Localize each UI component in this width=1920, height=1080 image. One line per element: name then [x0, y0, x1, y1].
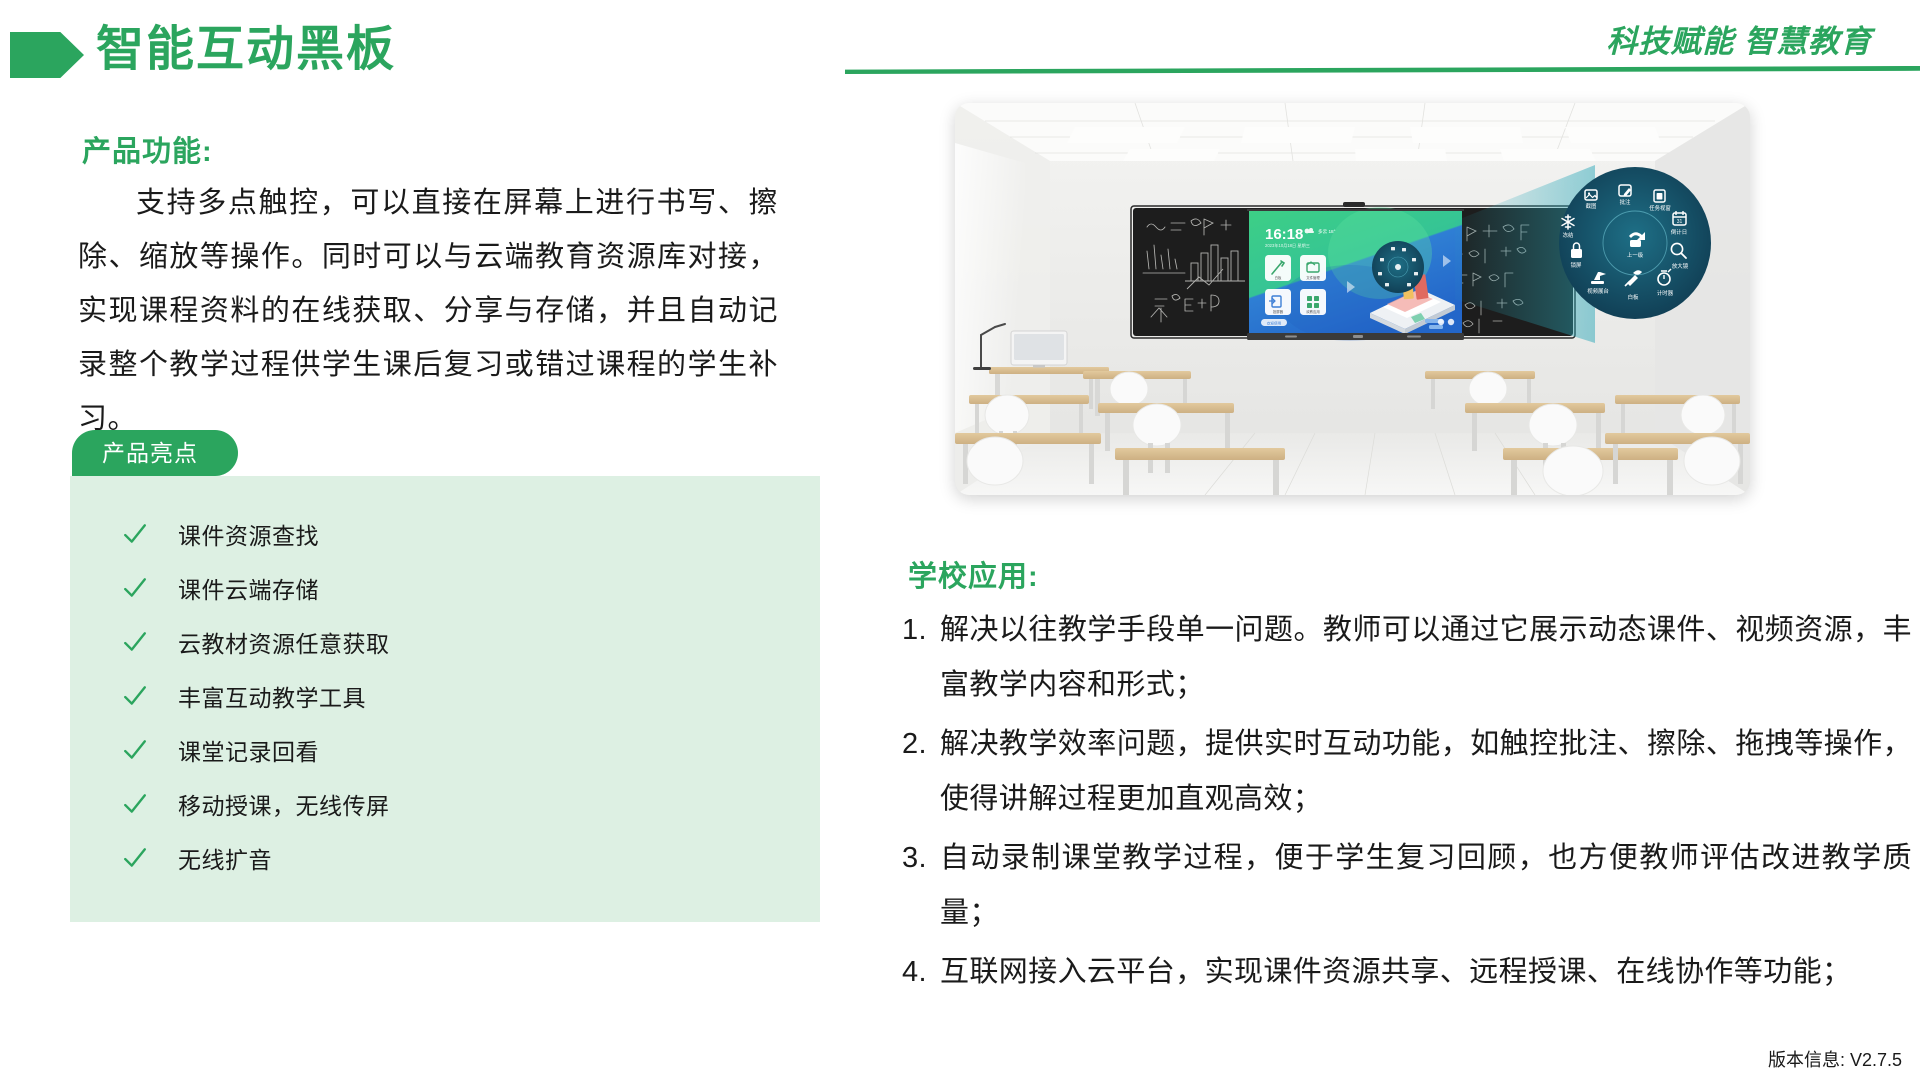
list-item: 1. 解决以往教学手段单一问题。教师可以通过它展示动态课件、视频资源，丰富教学内… [902, 603, 1912, 713]
list-item-number: 3. [902, 831, 940, 941]
product-highlights-panel: 课件资源查找 课件云端存储 云教材资源任意获取 丰富互动教学工具 [70, 476, 820, 922]
svg-text:放大镜: 放大镜 [1672, 262, 1689, 270]
check-icon [122, 845, 148, 871]
svg-text:投屏器: 投屏器 [1273, 309, 1284, 314]
check-icon [122, 575, 148, 601]
list-item: 课件云端存储 [70, 564, 820, 612]
list-item-label: 自动录制课堂教学过程，便于学生复习回顾，也方便教师评估改进教学质量； [940, 831, 1912, 941]
list-item: 课堂记录回看 [70, 726, 820, 774]
list-item-label: 互联网接入云平台，实现课件资源共享、远程授课、在线协作等功能； [940, 945, 1912, 1000]
svg-text:文件管理: 文件管理 [1306, 275, 1320, 280]
list-item: 4. 互联网接入云平台，实现课件资源共享、远程授课、在线协作等功能； [902, 945, 1912, 1000]
list-item-label: 丰富互动教学工具 [178, 679, 366, 713]
list-item: 移动授课，无线传屏 [70, 780, 820, 828]
school-application-list: 1. 解决以往教学手段单一问题。教师可以通过它展示动态课件、视频资源，丰富教学内… [902, 603, 1912, 1004]
svg-text:上一级: 上一级 [1627, 251, 1644, 259]
svg-text:欢迎使用: 欢迎使用 [1267, 320, 1282, 325]
page-header: 智能互动黑板 科技赋能 智慧教育 [0, 0, 1920, 98]
list-item-label: 无线扩音 [178, 841, 272, 875]
list-item-label: 解决教学效率问题，提供实时互动功能，如触控批注、擦除、拖拽等操作，使得讲解过程更… [940, 717, 1912, 827]
list-item-label: 解决以往教学手段单一问题。教师可以通过它展示动态课件、视频资源，丰富教学内容和形… [940, 603, 1912, 713]
svg-text:视频展台: 视频展台 [1587, 287, 1609, 295]
svg-text:31: 31 [1677, 219, 1683, 225]
check-icon [122, 629, 148, 655]
list-item-label: 课件资源查找 [178, 517, 319, 551]
right-column: 16:18 多云 18° 2023年10月18日 星期三 白板 文件管理 投屏器 [880, 98, 1920, 1080]
list-item-number: 4. [902, 945, 940, 1000]
list-item-label: 课件云端存储 [178, 571, 319, 605]
check-icon [122, 683, 148, 709]
list-item: 无线扩音 [70, 834, 820, 882]
svg-text:倒计日: 倒计日 [1671, 228, 1687, 236]
check-icon [122, 791, 148, 817]
list-item: 2. 解决教学效率问题，提供实时互动功能，如触控批注、擦除、拖拽等操作，使得讲解… [902, 717, 1912, 827]
check-icon [122, 521, 148, 547]
list-item-number: 1. [902, 603, 940, 713]
svg-text:16:18: 16:18 [1265, 226, 1303, 243]
classroom-photo: 16:18 多云 18° 2023年10月18日 星期三 白板 文件管理 投屏器 [955, 103, 1750, 495]
svg-text:任务视窗: 任务视窗 [1649, 204, 1671, 212]
svg-text:欢教应用: 欢教应用 [1306, 309, 1320, 314]
page-title: 智能互动黑板 [96, 14, 396, 86]
list-item-label: 移动授课，无线传屏 [178, 787, 390, 821]
svg-text:2023年10月18日 星期三: 2023年10月18日 星期三 [1265, 242, 1310, 249]
list-item: 丰富互动教学工具 [70, 672, 820, 720]
svg-text:冻结: 冻结 [1563, 231, 1574, 239]
header-tagline: 科技赋能 智慧教育 [1606, 16, 1872, 61]
product-function-heading: 产品功能: [82, 128, 213, 170]
svg-text:白板: 白板 [1628, 293, 1639, 301]
arrow-marker-icon [10, 32, 84, 78]
school-application-heading: 学校应用: [908, 553, 1039, 595]
list-item: 3. 自动录制课堂教学过程，便于学生复习回顾，也方便教师评估改进教学质量； [902, 831, 1912, 941]
list-item: 课件资源查找 [70, 510, 820, 558]
list-item-number: 2. [902, 717, 940, 827]
svg-text:计时器: 计时器 [1657, 289, 1674, 297]
list-item-label: 云教材资源任意获取 [178, 625, 390, 659]
svg-text:白板: 白板 [1275, 275, 1282, 280]
list-item-label: 课堂记录回看 [178, 733, 319, 767]
svg-text:批注: 批注 [1620, 198, 1631, 206]
list-item: 云教材资源任意获取 [70, 618, 820, 666]
header-divider [845, 66, 1920, 74]
version-info: 版本信息: V2.7.5 [1768, 1046, 1902, 1072]
check-icon [122, 737, 148, 763]
svg-text:锁屏: 锁屏 [1571, 261, 1582, 269]
svg-text:截图: 截图 [1586, 202, 1597, 210]
product-highlights-badge: 产品亮点 [72, 430, 238, 476]
product-highlights-block: 产品亮点 课件资源查找 课件云端存储 云教材资源任意获取 [70, 430, 820, 922]
svg-text:多云 18°: 多云 18° [1318, 228, 1336, 235]
product-function-paragraph: 支持多点触控，可以直接在屏幕上进行书写、擦除、缩放等操作。同时可以与云端教育资源… [78, 176, 778, 446]
left-column: 产品功能: 支持多点触控，可以直接在屏幕上进行书写、擦除、缩放等操作。同时可以与… [0, 98, 880, 1080]
